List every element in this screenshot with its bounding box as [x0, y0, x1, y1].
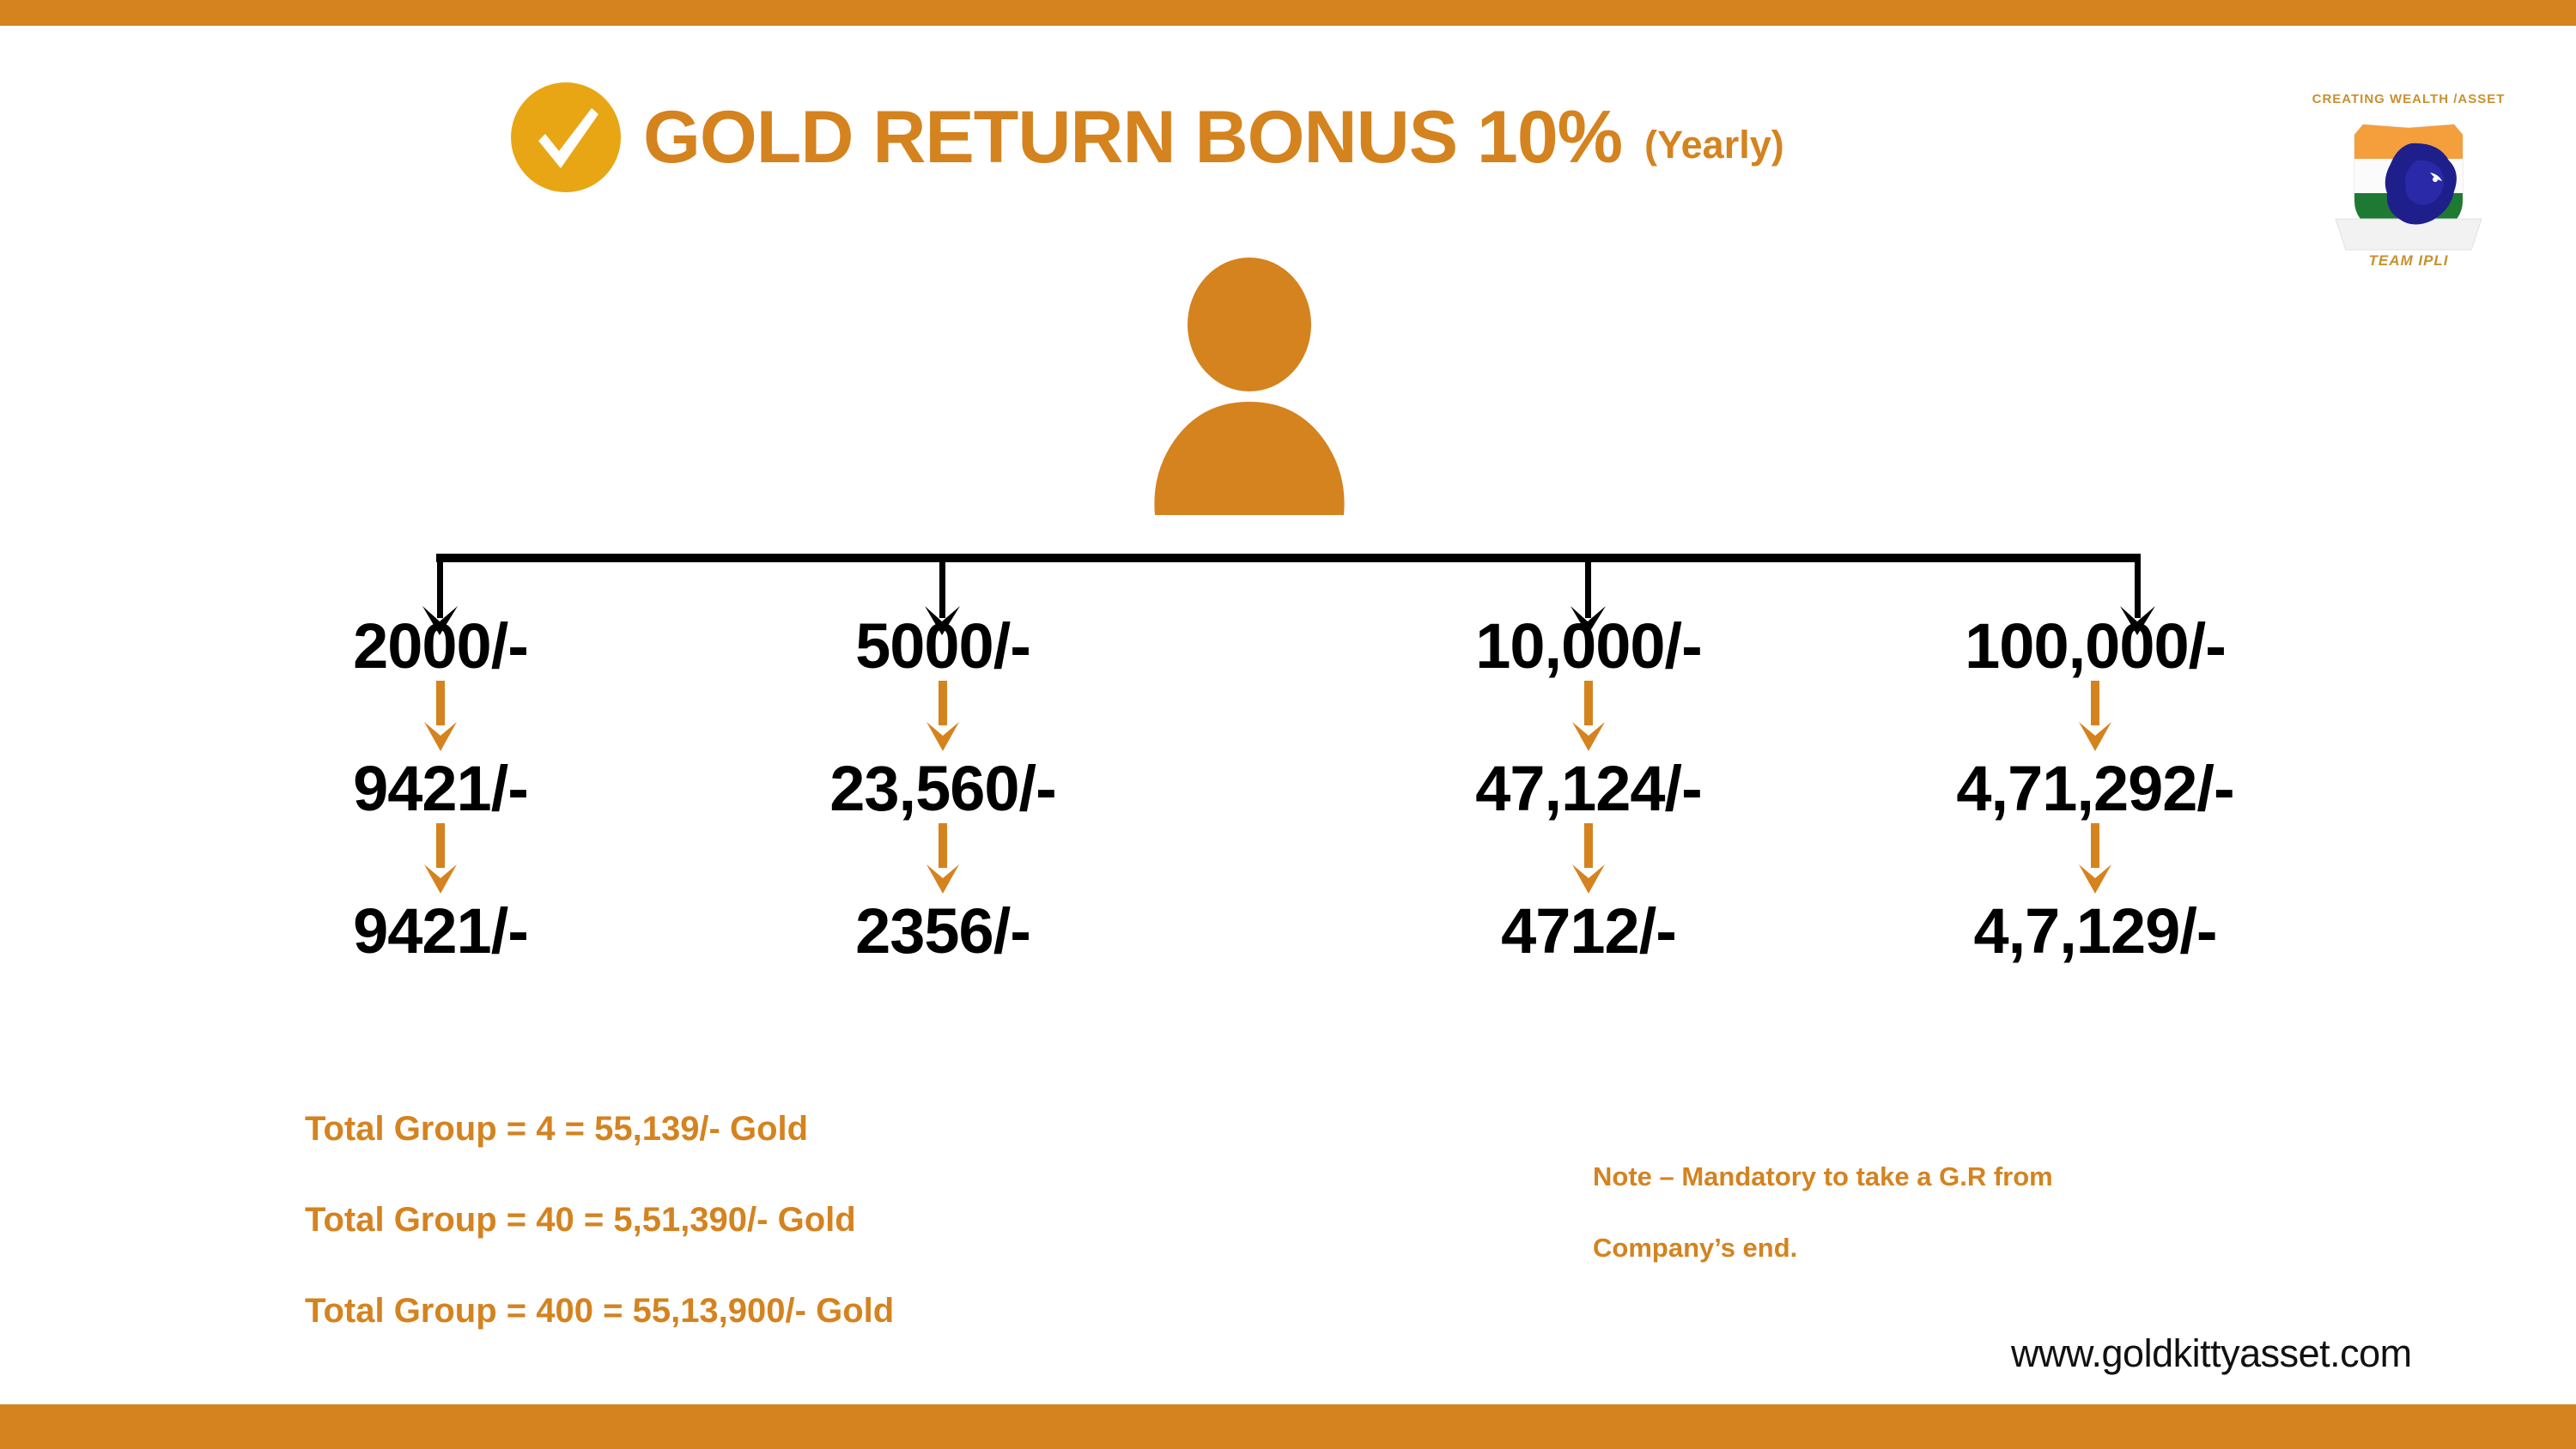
- note-block: Note – Mandatory to take a G.R from Comp…: [1593, 1163, 2314, 1306]
- bottom-accent-bar: [0, 1404, 2576, 1449]
- branch-column: 5000/- 23,560/- 2356/-: [720, 615, 1166, 963]
- amount-level-3: 9421/-: [217, 900, 664, 963]
- amount-level-2: 9421/-: [217, 757, 664, 821]
- logo-banner-text: TEAM IPLI: [2310, 252, 2507, 270]
- amount-level-2: 4,71,292/-: [1872, 757, 2318, 821]
- page-subtitle: (Yearly): [1644, 112, 1784, 164]
- top-accent-bar: [0, 0, 2576, 26]
- down-arrow-icon: [720, 678, 1166, 757]
- amount-level-3: 4,7,129/-: [1872, 900, 2318, 963]
- down-arrow-icon: [217, 821, 664, 900]
- amount-level-1: 2000/-: [217, 615, 664, 678]
- down-arrow-icon: [217, 678, 664, 757]
- total-line: Total Group = 40 = 5,51,390/- Gold: [305, 1203, 894, 1237]
- down-arrow-icon: [1872, 821, 2318, 900]
- amount-level-3: 4712/-: [1365, 900, 1812, 963]
- person-avatar-icon: [1142, 258, 1357, 532]
- website-url[interactable]: www.goldkittyasset.com: [2011, 1331, 2412, 1376]
- down-arrow-icon: [1365, 678, 1812, 757]
- amount-level-2: 47,124/-: [1365, 757, 1812, 821]
- check-circle-icon: [511, 82, 621, 192]
- total-line: Total Group = 400 = 55,13,900/- Gold: [305, 1294, 894, 1328]
- amount-level-3: 2356/-: [720, 900, 1166, 963]
- amount-level-2: 23,560/-: [720, 757, 1166, 821]
- page-title: GOLD RETURN BONUS 10%: [643, 100, 1622, 174]
- branch-column: 100,000/- 4,71,292/- 4,7,129/-: [1872, 615, 2318, 963]
- down-arrow-icon: [1365, 821, 1812, 900]
- logo-arc-text: CREATING WEALTH /ASSET: [2310, 92, 2507, 106]
- amount-level-1: 5000/-: [720, 615, 1166, 678]
- down-arrow-icon: [720, 821, 1166, 900]
- amount-level-1: 100,000/-: [1872, 615, 2318, 678]
- branch-column: 2000/- 9421/- 9421/-: [217, 615, 664, 963]
- totals-list: Total Group = 4 = 55,139/- Gold Total Gr…: [305, 1112, 894, 1385]
- note-line-1: Note – Mandatory to take a G.R from: [1593, 1163, 2314, 1190]
- total-line: Total Group = 4 = 55,139/- Gold: [305, 1112, 894, 1146]
- lion-shield-logo: CREATING WEALTH /ASSET TEAM IPLI: [2310, 90, 2507, 275]
- slide-canvas: GOLD RETURN BONUS 10% (Yearly) CREATING …: [0, 0, 2576, 1449]
- note-line-2: Company’s end.: [1593, 1234, 2314, 1261]
- branch-column: 10,000/- 47,124/- 4712/-: [1365, 615, 1812, 963]
- down-arrow-icon: [1872, 678, 2318, 757]
- amount-level-1: 10,000/-: [1365, 615, 1812, 678]
- header: GOLD RETURN BONUS 10% (Yearly): [511, 82, 1784, 192]
